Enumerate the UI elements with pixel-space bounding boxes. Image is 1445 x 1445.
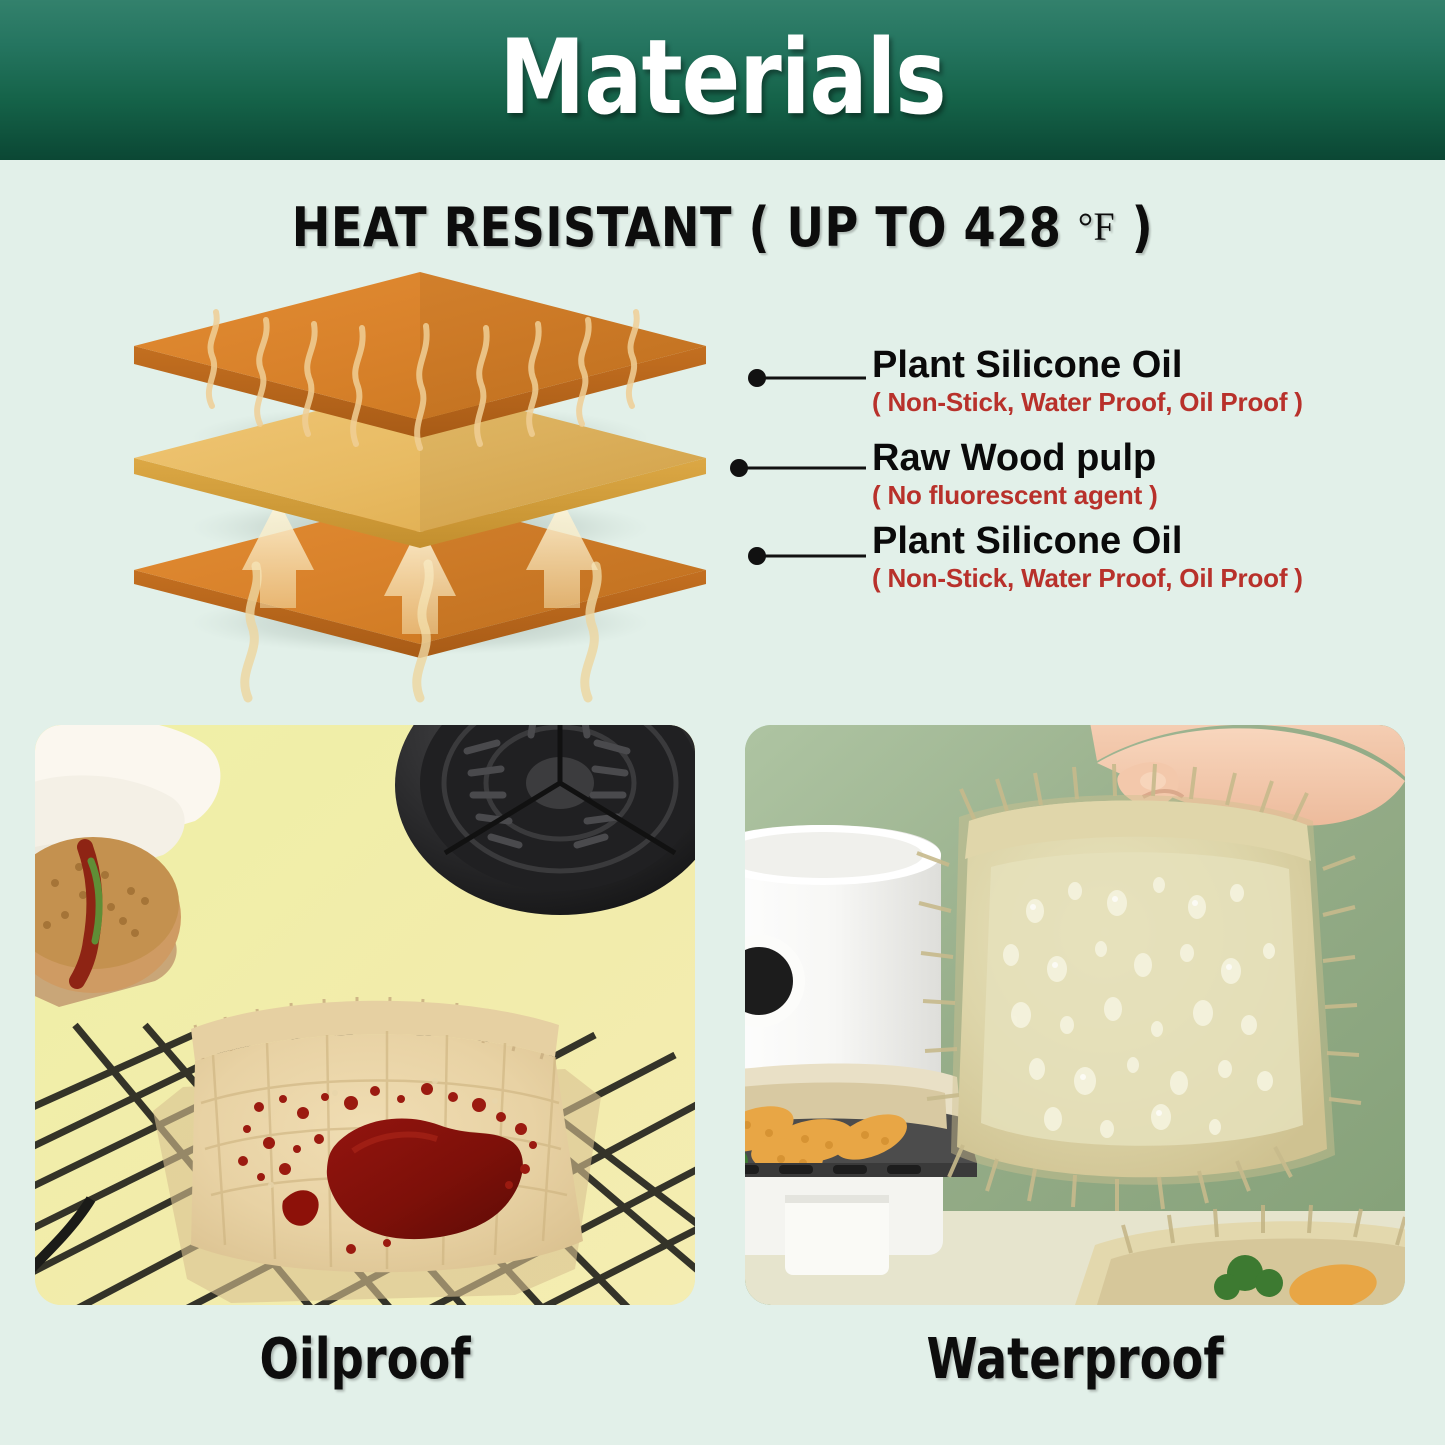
callout-title: Plant Silicone Oil xyxy=(872,520,1303,562)
infographic-page: Materials HEAT RESISTANT ( UP TO 428 °F … xyxy=(0,0,1445,1445)
paper-liner-waterproof xyxy=(917,764,1361,1211)
header-banner: Materials xyxy=(0,0,1445,160)
callout-subtitle: ( Non-Stick, Water Proof, Oil Proof ) xyxy=(872,562,1303,594)
callout-middle-layer: Raw Wood pulp ( No fluorescent agent ) xyxy=(872,437,1158,511)
heat-resistant-heading: HEAT RESISTANT ( UP TO 428 °F ) xyxy=(36,196,1409,259)
callout-bottom-layer: Plant Silicone Oil ( Non-Stick, Water Pr… xyxy=(872,520,1303,594)
photo-oilproof xyxy=(35,725,695,1305)
heat-resistant-prefix: HEAT RESISTANT ( UP TO 428 xyxy=(292,196,1078,259)
callout-subtitle: ( Non-Stick, Water Proof, Oil Proof ) xyxy=(872,386,1303,418)
callout-subtitle: ( No fluorescent agent ) xyxy=(872,479,1158,511)
callout-title: Raw Wood pulp xyxy=(872,437,1158,479)
caption-waterproof: Waterproof xyxy=(771,1328,1378,1392)
caption-oilproof: Oilproof xyxy=(61,1328,668,1392)
heat-resistant-suffix: ) xyxy=(1115,196,1153,259)
callout-title: Plant Silicone Oil xyxy=(872,344,1303,386)
photo-waterproof xyxy=(745,725,1405,1305)
degree-fahrenheit-symbol: °F xyxy=(1078,204,1115,249)
callout-labels: Plant Silicone Oil ( Non-Stick, Water Pr… xyxy=(0,278,1445,708)
callout-top-layer: Plant Silicone Oil ( Non-Stick, Water Pr… xyxy=(872,344,1303,418)
page-title: Materials xyxy=(51,18,1395,138)
paper-liner-oilproof xyxy=(153,997,601,1303)
